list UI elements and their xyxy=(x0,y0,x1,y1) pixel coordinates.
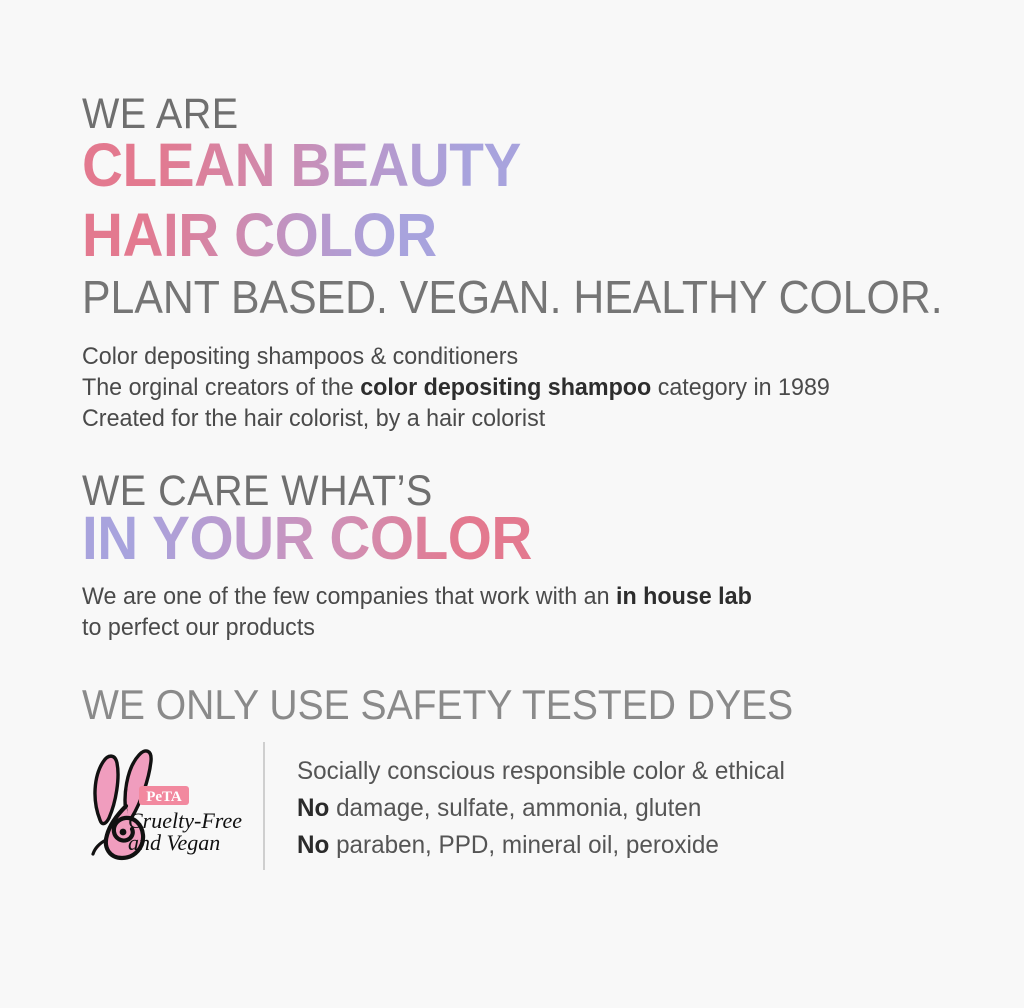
claim-text: damage, sulfate, ammonia, gluten xyxy=(329,794,701,822)
peta-cruelty-free-logo: PeTA Cruelty-Free and Vegan xyxy=(82,748,247,868)
care-line-1-pre: We are one of the few companies that wor… xyxy=(82,583,616,610)
care-paragraph: We are one of the few companies that wor… xyxy=(82,581,773,643)
hero-headline-line2-wrap: HAIR COLOR xyxy=(82,205,463,266)
intro-line-2-emphasis: color depositing shampoo xyxy=(360,374,651,401)
hero-headline-line1-wrap: CLEAN BEAUTY xyxy=(82,135,554,196)
claim-emphasis: No xyxy=(297,794,329,822)
claim-emphasis: No xyxy=(297,831,329,859)
care-line-2: to perfect our products xyxy=(82,612,752,643)
hero-eyebrow: WE ARE xyxy=(82,93,239,136)
claims-list: Socially conscious responsible color & e… xyxy=(297,753,897,864)
claim-item: No paraben, PPD, mineral oil, peroxide xyxy=(297,827,879,864)
claim-text: Socially conscious responsible color & e… xyxy=(297,757,785,785)
dyes-heading: WE ONLY USE SAFETY TESTED DYES xyxy=(82,684,793,726)
intro-line-2-pre: The orginal creators of the xyxy=(82,374,360,401)
hero-headline-line1: CLEAN BEAUTY xyxy=(82,135,521,196)
intro-line-3: Created for the hair colorist, by a hair… xyxy=(82,403,830,434)
claim-item: No damage, sulfate, ammonia, gluten xyxy=(297,790,879,827)
intro-paragraph: Color depositing shampoos & conditioners… xyxy=(82,341,853,434)
peta-bunny-icon: PeTA Cruelty-Free and Vegan xyxy=(82,748,247,868)
peta-caption-line2: and Vegan xyxy=(128,830,220,855)
care-headline: IN YOUR COLOR xyxy=(82,508,532,569)
care-line-1: We are one of the few companies that wor… xyxy=(82,581,752,612)
intro-line-1: Color depositing shampoos & conditioners xyxy=(82,341,830,372)
claim-text: paraben, PPD, mineral oil, peroxide xyxy=(329,831,719,859)
intro-line-2: The orginal creators of the color deposi… xyxy=(82,372,830,403)
intro-line-2-post: category in 1989 xyxy=(651,374,830,401)
vertical-divider xyxy=(263,742,265,870)
hero-subhead: PLANT BASED. VEGAN. HEALTHY COLOR. xyxy=(82,274,943,320)
care-headline-wrap: IN YOUR COLOR xyxy=(82,508,566,569)
hero-headline-line2: HAIR COLOR xyxy=(82,205,437,266)
care-line-1-emphasis: in house lab xyxy=(616,583,752,610)
claim-item: Socially conscious responsible color & e… xyxy=(297,753,879,790)
peta-badge-label: PeTA xyxy=(146,789,182,805)
marketing-poster: WE ARE CLEAN BEAUTY HAIR COLOR PLANT BAS… xyxy=(0,0,1024,1008)
